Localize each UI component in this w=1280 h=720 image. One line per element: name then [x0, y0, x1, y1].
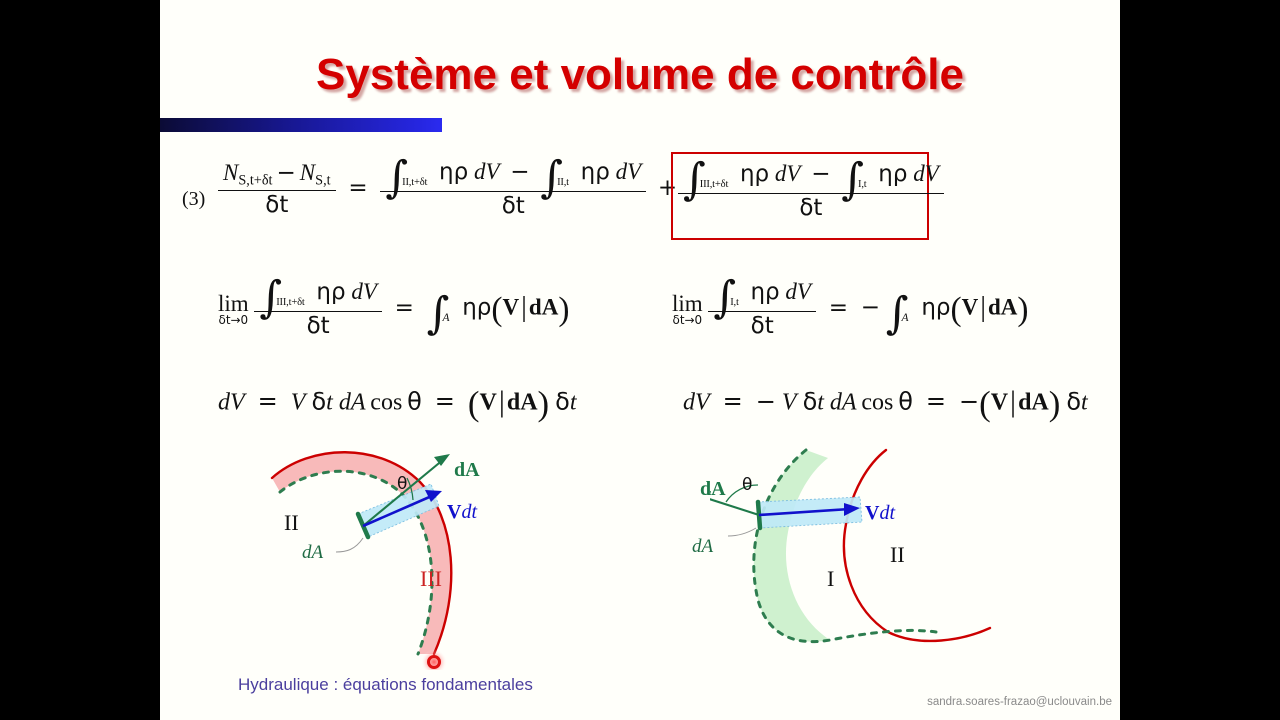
- velocity-dt-right: dt: [879, 502, 895, 524]
- limit-equation-right: lim δt→0 ∫I,t ηρ dV δt = − ∫A ηρ(V|dA): [672, 280, 1029, 339]
- integral-1-limits: II,t+δt: [402, 177, 427, 188]
- label-velocity-left: Vdt: [447, 501, 477, 524]
- integral-8: ∫A: [886, 295, 916, 326]
- integral-3: ∫III,t+δt: [683, 162, 734, 192]
- eq3-lhs-numerator: NS,t+δt−NS,t: [218, 161, 336, 191]
- label-angle-right: θ: [742, 475, 752, 495]
- integral-1: ∫II,t+δt: [385, 160, 433, 190]
- eq3-boxed-fraction: ∫III,t+δt ηρ dV − ∫I,t ηρ dV δt: [678, 162, 944, 221]
- limit-numerator-left: ∫III,t+δt ηρ dV: [254, 280, 381, 312]
- limit-operator-right: lim δt→0: [672, 292, 703, 327]
- lim-sub-right: δt→0: [672, 315, 703, 327]
- integrand-2: ηρ dV: [581, 159, 642, 184]
- N-symbol-b: N: [300, 160, 315, 185]
- limit-sign-right: −: [861, 295, 880, 321]
- dv-equation-right: dV = − V δt dA cos θ = −(V|dA) δt: [683, 384, 1088, 424]
- slide-canvas: Système et volume de contrôle (3) NS,t+δ…: [160, 0, 1120, 720]
- velocity-symbol-left: V: [447, 501, 461, 523]
- limit-equals-right: =: [822, 295, 855, 321]
- area-element-leader: [336, 538, 363, 552]
- outer-boundary-curve-right: [844, 450, 990, 641]
- integral-2: ∫II,t: [540, 160, 575, 190]
- integrand-3: ηρ dV: [740, 161, 801, 186]
- minus-b: −: [505, 159, 534, 185]
- author-email: sandra.soares-frazao@uclouvain.be: [927, 696, 1112, 708]
- integral-2-limits: II,t: [557, 177, 569, 188]
- integral-7: ∫I,t: [713, 280, 744, 310]
- dv-equals2-left: =: [428, 387, 462, 415]
- dv-result-sign-right: −: [959, 387, 979, 415]
- lim-word-left: lim: [218, 292, 249, 315]
- dv-equals-right: =: [716, 387, 750, 415]
- outer-boundary-curve: [272, 452, 451, 654]
- eq3-boxed-denominator: δt: [678, 194, 944, 220]
- integral-6-limit: A: [442, 312, 449, 324]
- eq3-equals: =: [341, 175, 374, 201]
- label-region-II-left: II: [284, 510, 299, 536]
- equation-3-main: NS,t+δt−NS,t δt = ∫II,t+δt ηρ dV − ∫II,t…: [218, 160, 683, 219]
- lim-sub-left: δt→0: [218, 315, 249, 327]
- region-I-fill: [754, 450, 830, 642]
- dv-equation-left: dV = V δt dA cos θ = (V|dA) δt: [218, 384, 576, 424]
- limit-fraction-right: ∫I,t ηρ dV δt: [708, 280, 816, 339]
- label-area-element-left: dA: [302, 542, 323, 564]
- integral-5-limits: III,t+δt: [276, 297, 304, 308]
- dv-expr-right: V: [782, 389, 797, 415]
- eta-rho-left: ηρ: [462, 295, 491, 321]
- lim-word-right: lim: [672, 292, 703, 315]
- limit-numerator-right: ∫I,t ηρ dV: [708, 280, 816, 312]
- eq3-rhs-fraction: ∫II,t+δt ηρ dV − ∫II,t ηρ dV δt: [380, 160, 646, 219]
- eta-rho-right: ηρ: [921, 295, 950, 321]
- eq3-rhs-denominator: δt: [380, 192, 646, 218]
- dv-sign-right: −: [756, 387, 776, 415]
- label-normal-vector-right: dA: [700, 478, 726, 501]
- page-title: Système et volume de contrôle: [160, 50, 1120, 100]
- diagram-region-I-svg: [710, 440, 1000, 655]
- limit-equation-left: lim δt→0 ∫III,t+δt ηρ dV δt = ∫A ηρ(V|dA…: [218, 280, 569, 339]
- equation-3-boxed-term: ∫III,t+δt ηρ dV − ∫I,t ηρ dV δt: [678, 162, 944, 221]
- diagram-region-I: dA dA Vdt θ I II: [710, 440, 1000, 655]
- integral-4: ∫I,t: [841, 162, 872, 192]
- limit-fraction-left: ∫III,t+δt ηρ dV δt: [254, 280, 381, 339]
- label-angle-left: θ: [397, 474, 407, 494]
- integral-5: ∫III,t+δt: [259, 280, 310, 310]
- eq3-lhs-denominator: δt: [218, 191, 336, 217]
- dv-lhs-right: dV: [683, 389, 710, 415]
- integral-8-limit: A: [902, 312, 909, 324]
- integral-7-limits: I,t: [730, 297, 739, 308]
- label-velocity-right: Vdt: [865, 502, 895, 525]
- minus-a: −: [273, 160, 300, 186]
- area-element-leader-right: [728, 528, 756, 536]
- N-symbol-a: N: [223, 160, 238, 185]
- label-region-III: III: [420, 566, 442, 592]
- integrand-1: ηρ dV: [439, 159, 500, 184]
- integrand-5: ηρ dV: [316, 279, 377, 304]
- eq3-rhs-numerator: ∫II,t+δt ηρ dV − ∫II,t ηρ dV: [380, 160, 646, 192]
- dv-equals2-right: =: [919, 387, 953, 415]
- label-region-I: I: [827, 566, 834, 592]
- eq3-lhs-fraction: NS,t+δt−NS,t δt: [218, 161, 336, 217]
- integrand-4: ηρ dV: [878, 161, 939, 186]
- eq3-boxed-numerator: ∫III,t+δt ηρ dV − ∫I,t ηρ dV: [678, 162, 944, 194]
- region-III-fill: [272, 452, 451, 654]
- integral-4-limits: I,t: [858, 179, 867, 190]
- integral-6: ∫A: [427, 295, 457, 326]
- N-subscript-b: S,t: [315, 173, 330, 189]
- integral-3-limits: III,t+δt: [700, 179, 728, 190]
- integrand-7: ηρ dV: [750, 279, 811, 304]
- limit-operator-left: lim δt→0: [218, 292, 249, 327]
- velocity-dt-left: dt: [461, 501, 477, 523]
- limit-equals-left: =: [388, 295, 421, 321]
- minus-c: −: [806, 161, 835, 187]
- dv-lhs-left: dV: [218, 389, 245, 415]
- equation-3-row: (3) NS,t+δt−NS,t δt = ∫II,t+δt ηρ dV − ∫…: [174, 152, 1114, 256]
- dv-equals-left: =: [251, 387, 285, 415]
- label-area-element-right: dA: [692, 536, 713, 558]
- screen: Système et volume de contrôle (3) NS,t+δ…: [0, 0, 1280, 720]
- label-normal-vector-left: dA: [454, 459, 480, 482]
- dv-expr-left: V: [291, 389, 306, 415]
- title-accent-bar: [160, 118, 442, 132]
- equation-number: (3): [182, 188, 205, 211]
- label-region-II-right: II: [890, 542, 905, 568]
- N-subscript-a: S,t+δt: [238, 173, 272, 189]
- velocity-symbol-right: V: [865, 502, 879, 524]
- course-footer: Hydraulique : équations fondamentales: [238, 675, 533, 695]
- diagram-region-III: II III dA dA Vdt θ: [250, 440, 550, 670]
